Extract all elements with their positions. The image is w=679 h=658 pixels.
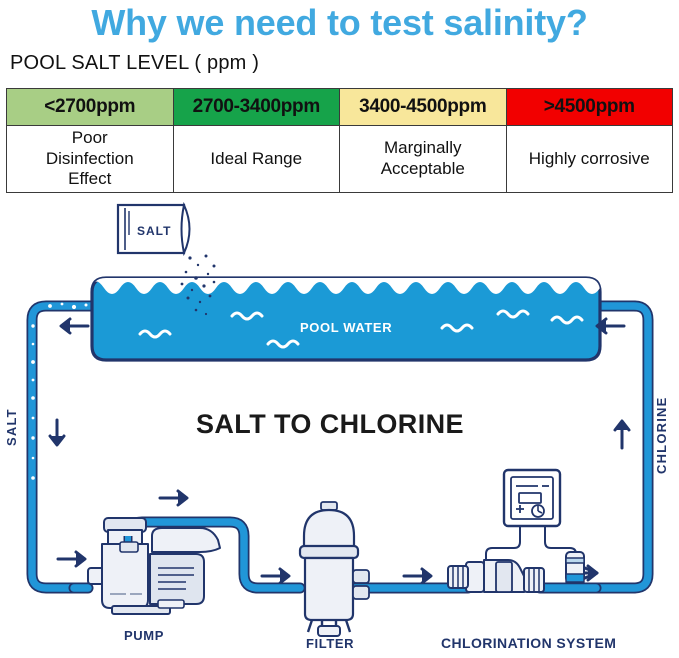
- pool-basin: POOL WATER: [92, 278, 600, 360]
- table-body-row: Poor Disinfection Effect Ideal Range Mar…: [7, 126, 673, 193]
- arrow-pool-inlet-right: [597, 319, 624, 333]
- filter-equipment: [300, 502, 369, 636]
- effect-line: Poor: [8, 128, 172, 149]
- left-pipe-label: SALT: [4, 408, 19, 446]
- effect-line: Highly corrosive: [508, 149, 672, 170]
- arrow-salt-down: [50, 420, 64, 445]
- pump-label: PUMP: [124, 628, 164, 643]
- table-header-cell-2: 3400-4500ppm: [340, 89, 507, 126]
- effect-line: Effect: [8, 169, 172, 190]
- pool-water-label: POOL WATER: [300, 320, 392, 335]
- right-pipe-label: CHLORINE: [654, 397, 669, 475]
- table-cell-effect-1: Ideal Range: [173, 126, 340, 193]
- chlorination-equipment: [448, 470, 584, 592]
- arrow-chlorine-up: [615, 421, 629, 448]
- arrow-pump-inlet: [58, 552, 85, 566]
- table-header-cell-1: 2700-3400ppm: [173, 89, 340, 126]
- chlorination-system-label: CHLORINATION SYSTEM: [441, 635, 616, 651]
- table-header-cell-3: >4500ppm: [506, 89, 673, 126]
- pool-salt-level-table: <2700ppm 2700-3400ppm 3400-4500ppm >4500…: [6, 88, 673, 193]
- table-caption: POOL SALT LEVEL ( ppm ): [10, 52, 259, 75]
- table-cell-effect-3: Highly corrosive: [506, 126, 673, 193]
- effect-line: Disinfection: [8, 149, 172, 170]
- pump-equipment: [88, 518, 220, 614]
- filter-label: FILTER: [306, 636, 354, 651]
- arrow-pump-outlet: [160, 491, 187, 505]
- table-cell-effect-0: Poor Disinfection Effect: [7, 126, 174, 193]
- table-cell-effect-2: Marginally Acceptable: [340, 126, 507, 193]
- center-label: SALT TO CHLORINE: [196, 409, 464, 439]
- effect-line: Marginally: [341, 138, 505, 159]
- page-title: Why we need to test salinity?: [0, 2, 679, 44]
- arrow-pool-outlet-left: [61, 319, 88, 333]
- salt-bag: SALT: [118, 205, 190, 253]
- effect-line: Ideal Range: [175, 149, 339, 170]
- arrow-to-filter: [262, 569, 289, 583]
- salt-particles-in-pipe: [31, 303, 87, 480]
- salt-to-chlorine-diagram: POOL WATER SALT: [0, 196, 679, 658]
- table-header-row: <2700ppm 2700-3400ppm 3400-4500ppm >4500…: [7, 89, 673, 126]
- effect-line: Acceptable: [341, 159, 505, 180]
- arrow-filter-outlet: [404, 569, 431, 583]
- salt-bag-label: SALT: [137, 224, 171, 238]
- table-header-cell-0: <2700ppm: [7, 89, 174, 126]
